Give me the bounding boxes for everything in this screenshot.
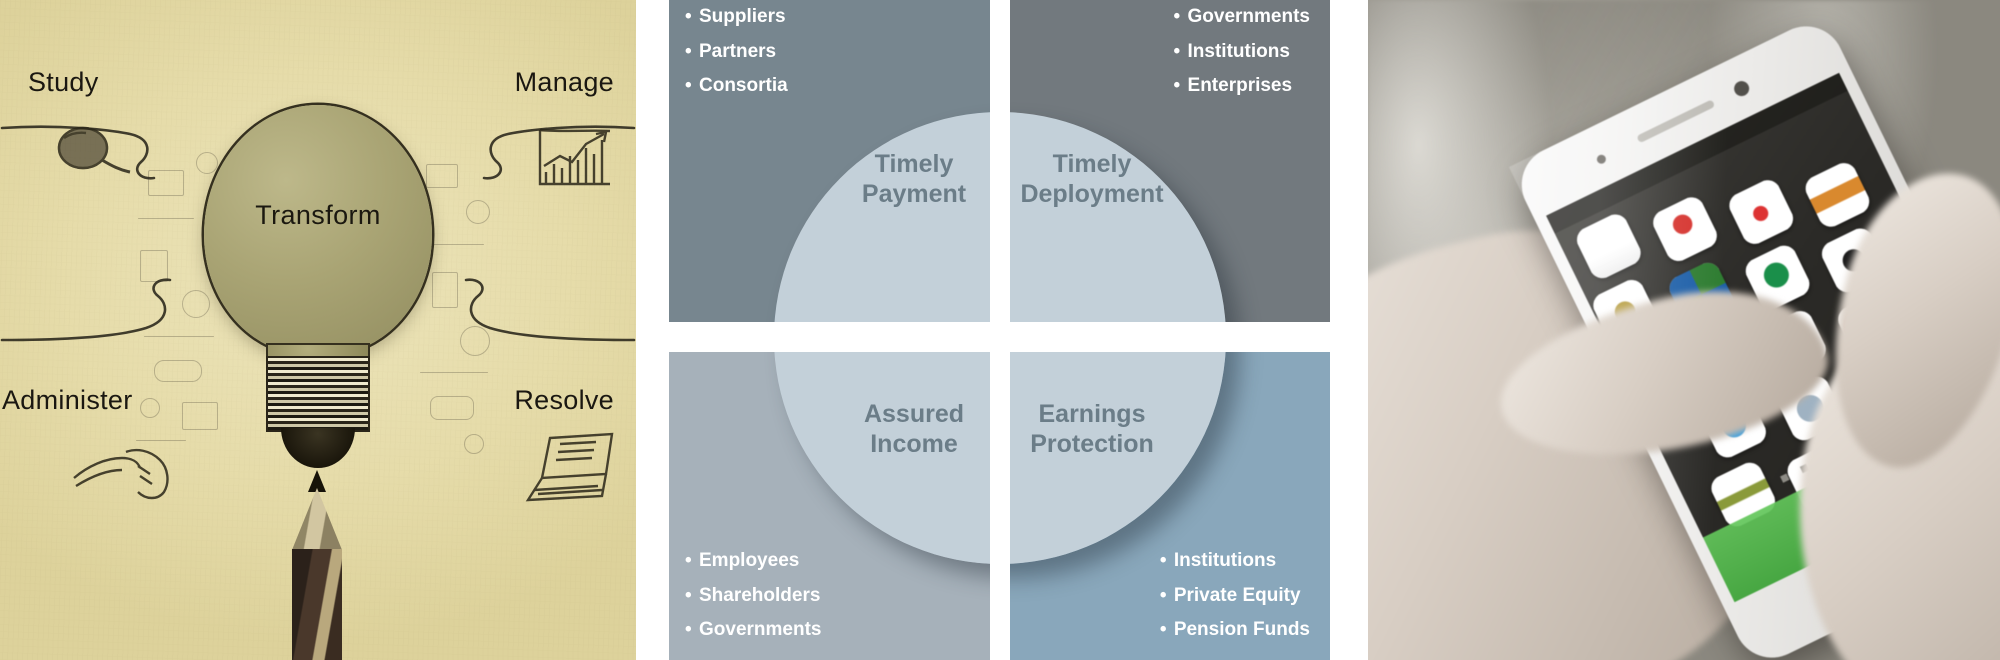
quadrant-bullets: Institutions Private Equity Pension Fund… [1160,548,1310,652]
list-item: Partners [685,39,788,65]
list-item: Governments [685,617,821,643]
quadrant-title: Earnings Protection [1010,400,1182,459]
quadrant-title: Timely Payment [829,150,990,209]
list-item: Enterprises [1174,73,1310,99]
list-item: Institutions [1160,548,1310,574]
lightbulb-sketch-panel: Transform Study Manage Administer Resolv… [0,0,636,660]
bulb-center-label: Transform [204,200,432,231]
quadrant-title: Assured Income [829,400,990,459]
circle-quarter [774,112,990,322]
pencil-body [292,549,342,660]
list-item: Suppliers [685,4,788,30]
composite-figure: Transform Study Manage Administer Resolv… [0,0,2000,660]
list-item: Pension Funds [1160,617,1310,643]
list-item: Private Equity [1160,583,1310,609]
quadrant-bullets: Suppliers Partners Consortia [685,4,788,108]
smartphone-photo-panel [1368,0,2000,660]
quadrant-bullets: Employees Shareholders Governments [685,548,821,652]
quadrant-assured-income[interactable]: Assured Income Employees Shareholders Go… [669,352,990,660]
list-item: Shareholders [685,583,821,609]
corner-label-resolve: Resolve [514,385,614,416]
bulb-tip [281,428,355,468]
corner-label-administer: Administer [2,385,133,416]
bulb-screw-base [268,358,368,430]
quadrant-matrix: Suppliers Partners Consortia Timely Paym… [669,0,1330,660]
list-item: Governments [1174,4,1310,30]
quadrant-timely-payment[interactable]: Suppliers Partners Consortia Timely Paym… [669,0,990,322]
quadrant-earnings-protection[interactable]: Earnings Protection Institutions Private… [1010,352,1330,660]
quadrant-bullets: Governments Institutions Enterprises [1174,4,1310,108]
list-item: Institutions [1174,39,1310,65]
corner-label-study: Study [28,67,99,98]
circle-quarter [1010,112,1226,322]
list-item: Consortia [685,73,788,99]
quadrant-title: Timely Deployment [1010,150,1182,209]
bulb-neck [268,345,368,359]
quadrant-timely-deployment[interactable]: Governments Institutions Enterprises Tim… [1010,0,1330,322]
pencil-graphic [286,470,348,660]
corner-label-manage: Manage [515,67,614,98]
list-item: Employees [685,548,821,574]
